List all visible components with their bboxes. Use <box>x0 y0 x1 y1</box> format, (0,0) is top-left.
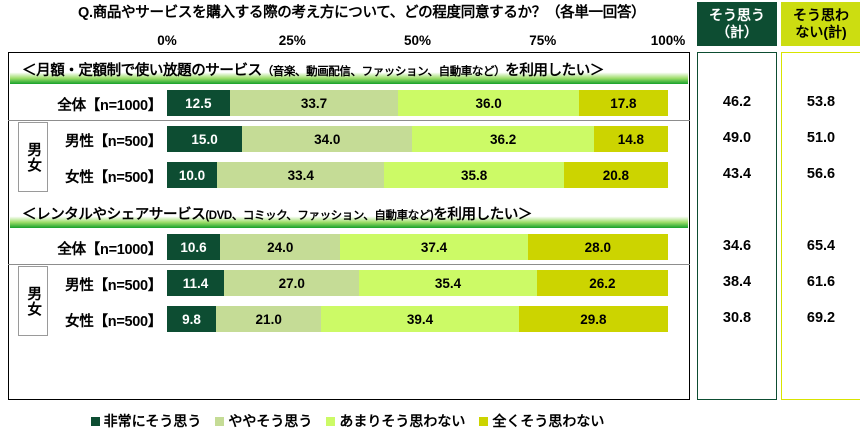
section-heading-0: ＜月額・定額制で使い放題のサービス（音楽、動画配信、ファッション、自動車など）を… <box>22 58 604 84</box>
bar-segment-全くそう思わない: 28.0 <box>528 234 668 260</box>
bar-segment-全くそう思わない: 17.8 <box>579 90 668 116</box>
agree-value-0-0: 46.2 <box>697 94 777 110</box>
axis-tick-3: 75% <box>529 33 556 48</box>
bar-segment-非常にそう思う: 15.0 <box>167 126 242 152</box>
gender-bracket-1: 男女 <box>18 266 48 336</box>
axis-tick-1: 25% <box>279 33 306 48</box>
row-label-1-0: 全体【n=1000】 <box>42 238 162 259</box>
bar-0-0: 12.533.736.017.8 <box>167 90 668 116</box>
bar-segment-全くそう思わない: 29.8 <box>519 306 668 332</box>
row-label-1-2: 女性【n=500】 <box>42 310 162 331</box>
disagree-value-0-2: 56.6 <box>781 166 860 182</box>
legend-label-2: あまりそう思わない <box>339 411 465 431</box>
header-agree-total-line1: そう思う <box>709 7 765 24</box>
bar-0-2: 10.033.435.820.8 <box>167 162 668 188</box>
header-disagree-total: そう思わない(計) <box>781 2 860 46</box>
bar-segment-非常にそう思う: 11.4 <box>167 270 224 296</box>
axis-tick-0: 0% <box>157 33 177 48</box>
chart-root: Q.商品やサービスを購入する際の考え方について、どの程度同意するか？（各単一回答… <box>0 0 860 437</box>
bar-segment-あまりそう思わない: 36.0 <box>398 90 578 116</box>
header-disagree-total-line2: ない(計) <box>795 24 846 41</box>
bar-segment-ややそう思う: 21.0 <box>216 306 321 332</box>
section-heading-tail-0: を利用したい＞ <box>505 63 604 79</box>
bar-segment-あまりそう思わない: 37.4 <box>340 234 527 260</box>
agree-value-0-2: 43.4 <box>697 166 777 182</box>
bar-1-2: 9.821.039.429.8 <box>167 306 668 332</box>
section-heading-1: ＜レンタルやシェアサービス(DVD、コミック、ファッション、自動車など)を利用し… <box>22 202 532 228</box>
bar-1-1: 11.427.035.426.2 <box>167 270 668 296</box>
row-label-0-2: 女性【n=500】 <box>42 166 162 187</box>
bar-segment-非常にそう思う: 12.5 <box>167 90 230 116</box>
bar-segment-あまりそう思わない: 35.8 <box>384 162 563 188</box>
row-separator-1 <box>8 264 690 265</box>
bar-segment-あまりそう思わない: 39.4 <box>321 306 518 332</box>
disagree-value-1-0: 65.4 <box>781 238 860 254</box>
gender-bracket-label-1: 男女 <box>26 286 41 317</box>
bar-segment-全くそう思わない: 14.8 <box>594 126 668 152</box>
section-heading-main-1: ＜レンタルやシェアサービス <box>22 207 205 223</box>
header-agree-total-line2: （計） <box>716 24 758 41</box>
bar-0-1: 15.034.036.214.8 <box>167 126 668 152</box>
agree-value-1-0: 34.6 <box>697 238 777 254</box>
bar-segment-ややそう思う: 33.4 <box>217 162 384 188</box>
gender-bracket-0: 男女 <box>18 122 48 192</box>
disagree-value-0-1: 51.0 <box>781 130 860 146</box>
section-heading-band-1: ＜レンタルやシェアサービス(DVD、コミック、ファッション、自動車など)を利用し… <box>10 202 688 228</box>
section-heading-tail-1: を利用したい＞ <box>433 207 532 223</box>
section-heading-detail-1: (DVD、コミック、ファッション、自動車など) <box>205 210 433 222</box>
legend-label-0: 非常にそう思う <box>104 411 202 431</box>
axis-tick-4: 100% <box>651 33 686 48</box>
bar-segment-非常にそう思う: 9.8 <box>167 306 216 332</box>
legend-swatch-icon-3 <box>479 417 488 426</box>
legend-item-1[interactable]: ややそう思う <box>215 411 312 431</box>
row-label-1-1: 男性【n=500】 <box>42 274 162 295</box>
row-label-0-0: 全体【n=1000】 <box>42 94 162 115</box>
agree-value-1-2: 30.8 <box>697 310 777 326</box>
header-agree-total: そう思う（計） <box>697 2 777 46</box>
bar-segment-ややそう思う: 34.0 <box>242 126 412 152</box>
legend-label-1: ややそう思う <box>228 411 312 431</box>
disagree-value-1-2: 69.2 <box>781 310 860 326</box>
bar-segment-ややそう思う: 27.0 <box>224 270 359 296</box>
legend-item-2[interactable]: あまりそう思わない <box>326 411 465 431</box>
section-heading-main-0: ＜月額・定額制で使い放題のサービス <box>22 63 262 79</box>
bar-segment-ややそう思う: 24.0 <box>220 234 340 260</box>
row-separator-0 <box>8 120 690 121</box>
gender-bracket-label-0: 男女 <box>26 142 41 173</box>
section-heading-band-0: ＜月額・定額制で使い放題のサービス（音楽、動画配信、ファッション、自動車など）を… <box>10 58 688 84</box>
chart-legend: 非常にそう思うややそう思うあまりそう思わない全くそう思わない <box>0 409 695 433</box>
bar-segment-あまりそう思わない: 36.2 <box>412 126 593 152</box>
legend-item-3[interactable]: 全くそう思わない <box>479 411 604 431</box>
section-heading-detail-0: （音楽、動画配信、ファッション、自動車など） <box>262 66 506 78</box>
bar-segment-全くそう思わない: 20.8 <box>564 162 668 188</box>
agree-value-1-1: 38.4 <box>697 274 777 290</box>
legend-swatch-icon-2 <box>326 417 335 426</box>
bar-segment-非常にそう思う: 10.0 <box>167 162 217 188</box>
row-label-0-1: 男性【n=500】 <box>42 130 162 151</box>
bar-1-0: 10.624.037.428.0 <box>167 234 668 260</box>
disagree-value-0-0: 53.8 <box>781 94 860 110</box>
bar-segment-全くそう思わない: 26.2 <box>537 270 668 296</box>
legend-swatch-icon-0 <box>91 417 100 426</box>
chart-title: Q.商品やサービスを購入する際の考え方について、どの程度同意するか？（各単一回答… <box>78 3 690 23</box>
bar-segment-あまりそう思わない: 35.4 <box>359 270 536 296</box>
axis-tick-2: 50% <box>404 33 431 48</box>
bar-segment-非常にそう思う: 10.6 <box>167 234 220 260</box>
agree-value-0-1: 49.0 <box>697 130 777 146</box>
legend-swatch-icon-1 <box>215 417 224 426</box>
legend-label-3: 全くそう思わない <box>492 411 604 431</box>
legend-item-0[interactable]: 非常にそう思う <box>91 411 202 431</box>
bar-segment-ややそう思う: 33.7 <box>230 90 399 116</box>
header-disagree-total-line1: そう思わ <box>793 7 849 24</box>
disagree-value-1-1: 61.6 <box>781 274 860 290</box>
